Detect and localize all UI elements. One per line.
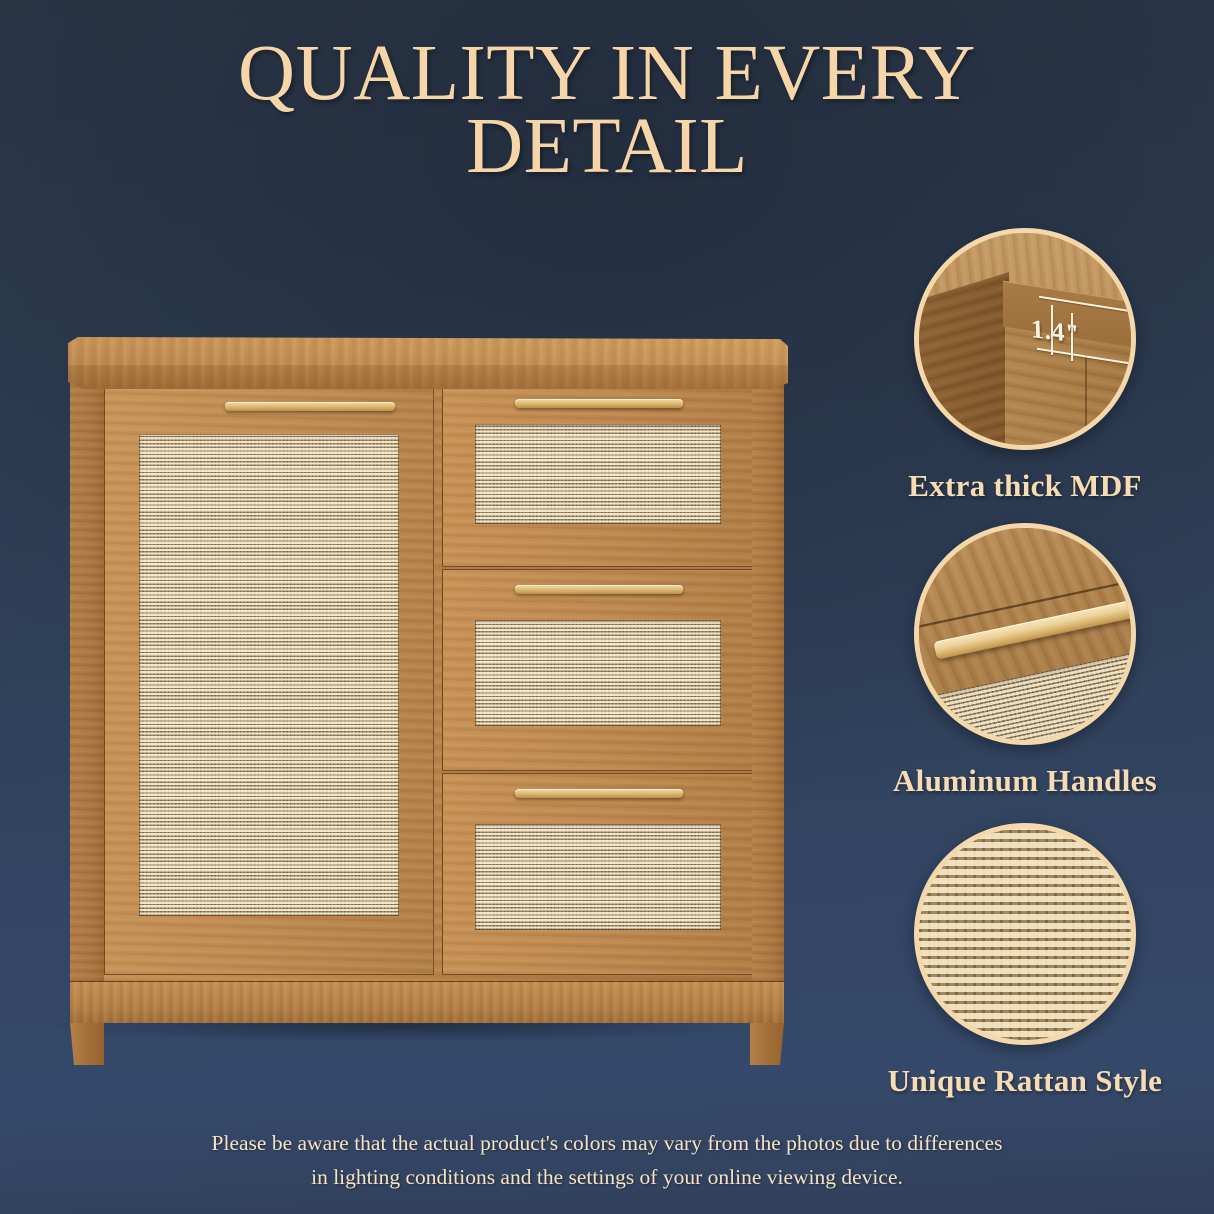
page-title: QUALITY IN EVERY DETAIL [0, 38, 1214, 183]
cabinet-top-panel [68, 337, 788, 389]
disclaimer-line-2: in lighting conditions and the settings … [120, 1161, 1094, 1194]
aluminum-handle-closeup-icon [914, 523, 1136, 745]
cabinet-right-side-panel [752, 381, 784, 981]
feature-unique-rattan-style: Unique Rattan Style [848, 823, 1202, 1099]
product-image [40, 300, 830, 1090]
dimension-value-label: 1.4" [1030, 314, 1080, 350]
cabinet-drawer-2[interactable] [442, 569, 754, 771]
drawer-2-handle-icon [515, 585, 683, 594]
feature-label-mdf: Extra thick MDF [848, 468, 1202, 504]
cabinet-base-plinth [70, 981, 784, 1023]
wood-panel-seam [1085, 355, 1087, 450]
cabinet-leg-left [70, 1023, 104, 1065]
feature-label-rattan: Unique Rattan Style [848, 1063, 1202, 1099]
feature-extra-thick-mdf: 1.4" Extra thick MDF [848, 228, 1202, 504]
disclaimer-text: Please be aware that the actual product'… [0, 1127, 1214, 1194]
drawer-1-rattan-panel [475, 424, 721, 524]
rattan-weave-closeup-icon [914, 823, 1136, 1045]
product-detail-banner: QUALITY IN EVERY DETAIL [0, 0, 1214, 1214]
door-handle-icon [225, 402, 395, 411]
drawer-2-rattan-panel [475, 620, 721, 726]
page-title-line-2: DETAIL [120, 111, 1094, 184]
drawer-1-handle-icon [515, 399, 683, 408]
cabinet-leg-right [750, 1023, 784, 1065]
disclaimer-line-1: Please be aware that the actual product'… [120, 1127, 1094, 1160]
mdf-thickness-closeup-icon: 1.4" [914, 228, 1136, 450]
cabinet-drawer-1[interactable] [442, 385, 754, 567]
drawer-3-handle-icon [515, 789, 683, 798]
drawer-3-rattan-panel [475, 824, 721, 930]
cabinet-left-side-panel [70, 381, 104, 981]
feature-label-handles: Aluminum Handles [848, 763, 1202, 799]
cabinet-drawer-3[interactable] [442, 773, 754, 975]
feature-aluminum-handles: Aluminum Handles [848, 523, 1202, 799]
page-title-line-1: QUALITY IN EVERY [120, 38, 1094, 111]
cabinet-body [68, 337, 788, 1037]
cabinet-door[interactable] [104, 385, 434, 975]
door-rattan-panel [139, 434, 399, 916]
wood-left-face [914, 272, 1009, 450]
